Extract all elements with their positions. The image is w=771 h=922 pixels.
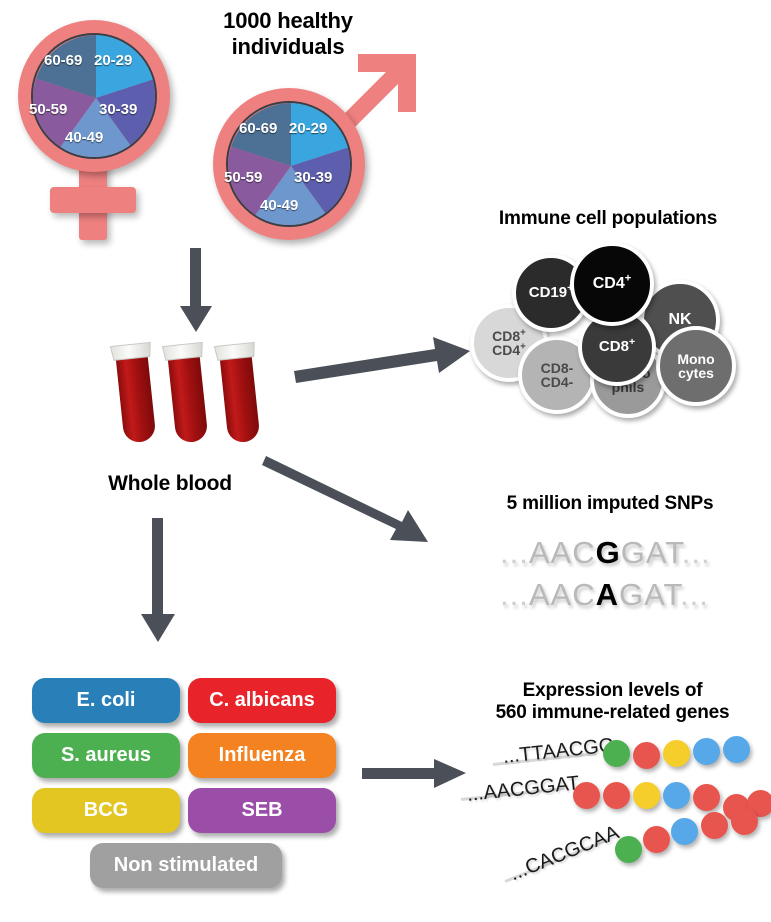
expression-strand: ...CACGCAA — [455, 818, 771, 888]
expression-bead — [731, 808, 758, 835]
snps-title: 5 million imputed SNPs — [455, 493, 765, 515]
male-seg-50-59: 50-59 — [224, 169, 262, 186]
female-seg-40-49: 40-49 — [65, 129, 103, 146]
snp-variant: G — [596, 535, 621, 570]
stimulus-s-aureus[interactable]: S. aureus — [32, 733, 180, 778]
female-cross-bar — [50, 187, 136, 213]
stimulus-influenza[interactable]: Influenza — [188, 733, 336, 778]
expression-title-line2: 560 immune-related genes — [460, 702, 765, 724]
figure-canvas: 1000 healthy individuals 20-29 30-39 40-… — [0, 0, 771, 922]
blood-tube — [162, 342, 212, 444]
snp-after: GAT — [621, 535, 682, 570]
blood-tube — [214, 342, 264, 444]
snp-sequence-row: ...AACAGAT... — [500, 577, 709, 613]
arrow-cohort-to-blood — [176, 248, 216, 338]
snp-after: GAT — [619, 577, 680, 612]
male-symbol: 20-29 30-39 40-49 50-59 60-69 — [205, 48, 425, 248]
female-symbol: 20-29 30-39 40-49 50-59 60-69 — [8, 12, 198, 247]
male-seg-20-29: 20-29 — [289, 120, 327, 137]
stimulus-bcg[interactable]: BCG — [32, 788, 180, 833]
male-seg-30-39: 30-39 — [294, 169, 332, 186]
expression-bead — [615, 836, 642, 863]
expression-bead — [603, 782, 630, 809]
immune-title: Immune cell populations — [448, 208, 768, 230]
expression-bead — [701, 812, 728, 839]
expression-bead — [643, 826, 670, 853]
strand-sequence: ...AACGGAT — [466, 772, 581, 807]
stimulus-c-albicans[interactable]: C. albicans — [188, 678, 336, 723]
cohort-title-line1: 1000 healthy — [178, 8, 398, 34]
expression-bead — [603, 740, 630, 767]
whole-blood-label: Whole blood — [60, 472, 280, 497]
expression-bead — [723, 736, 750, 763]
male-seg-40-49: 40-49 — [260, 197, 298, 214]
expression-bead — [633, 742, 660, 769]
expression-bead — [573, 782, 600, 809]
expression-bead — [693, 784, 720, 811]
stimulus-e-coli[interactable]: E. coli — [32, 678, 180, 723]
immune-cells-group: CD8+ CD4+ CD19+ CD4+ NK CD8+ CD8- CD4- N… — [460, 240, 760, 415]
stimulus-non-stimulated[interactable]: Non stimulated — [90, 843, 282, 888]
expression-strands-group: ...TTAACGG ...AACGGAT ...CACGCAA — [455, 740, 771, 900]
immune-cell-monocytes: Mono cytes — [656, 326, 736, 406]
snp-before: AAC — [529, 535, 596, 570]
strand-sequence: ...CACGCAA — [507, 822, 623, 887]
expression-bead — [693, 738, 720, 765]
snp-variant: A — [596, 577, 619, 612]
female-seg-30-39: 30-39 — [99, 101, 137, 118]
expression-title: Expression levels of 560 immune-related … — [460, 680, 765, 725]
arrow-blood-to-immune — [292, 325, 472, 385]
arrow-blood-to-snps — [262, 432, 452, 547]
female-seg-20-29: 20-29 — [94, 52, 132, 69]
stimuli-group: E. coli C. albicans S. aureus Influenza … — [32, 678, 342, 898]
expression-bead — [663, 740, 690, 767]
stimulus-seb[interactable]: SEB — [188, 788, 336, 833]
expression-bead — [671, 818, 698, 845]
blood-tube — [110, 342, 160, 444]
cell-label-line2: CD4+ — [492, 343, 526, 357]
female-seg-50-59: 50-59 — [29, 101, 67, 118]
expression-bead — [633, 782, 660, 809]
immune-cell-cd4: CD4+ — [570, 242, 654, 326]
expression-title-line1: Expression levels of — [460, 680, 765, 702]
female-seg-60-69: 60-69 — [44, 52, 82, 69]
snp-sequence-row: ...AACGGAT... — [500, 535, 711, 571]
male-seg-60-69: 60-69 — [239, 120, 277, 137]
snp-before: AAC — [529, 577, 596, 612]
expression-bead — [663, 782, 690, 809]
strand-sequence: ...TTAACGG — [502, 734, 616, 769]
arrow-blood-to-stimuli — [138, 518, 178, 648]
